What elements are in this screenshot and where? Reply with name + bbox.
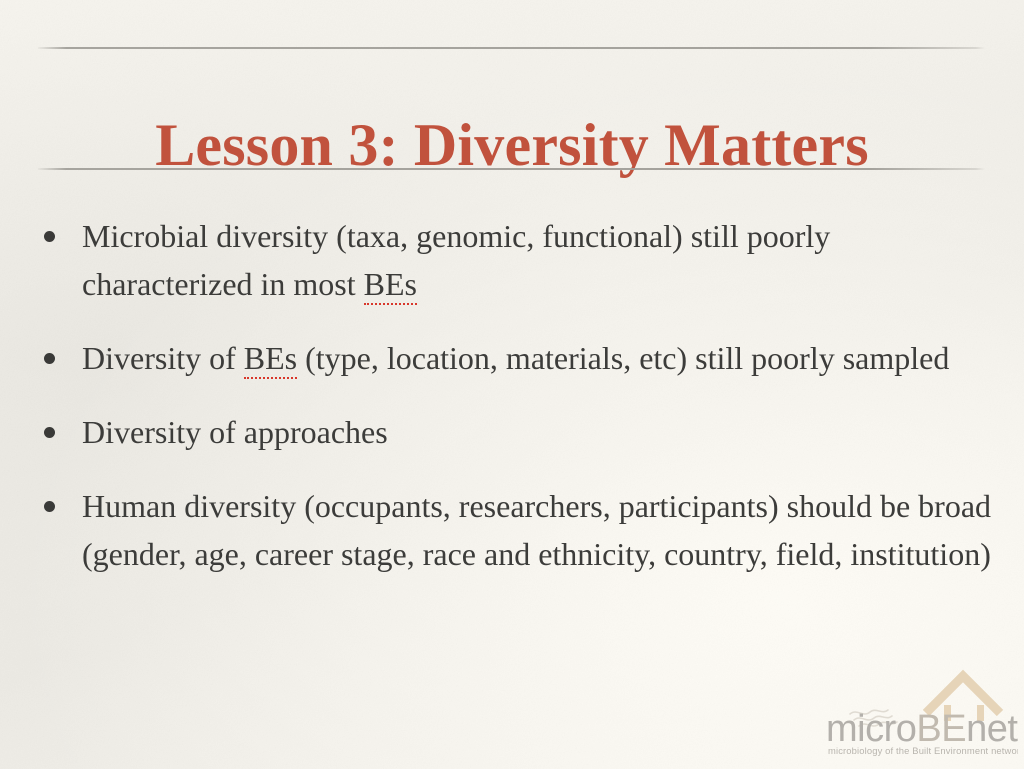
logo-wordmark: microBEnet — [826, 708, 1018, 750]
list-item: Human diversity (occupants, researchers,… — [38, 482, 993, 578]
logo-wordmark-micro: micro — [826, 708, 916, 750]
bullet-dot-icon — [44, 231, 55, 242]
list-item-text-before: Diversity of approaches — [82, 414, 388, 450]
list-item: Microbial diversity (taxa, genomic, func… — [38, 212, 993, 308]
list-item-text: Microbial diversity (taxa, genomic, func… — [82, 212, 993, 308]
misspelled-word: BEs — [244, 340, 297, 379]
list-item-text-before: Human diversity (occupants, researchers,… — [82, 488, 991, 572]
list-item-text-before: Diversity of — [82, 340, 244, 376]
logo-wordmark-net: net — [966, 708, 1018, 750]
bullet-dot-icon — [44, 427, 55, 438]
list-item-text: Diversity of approaches — [82, 408, 993, 456]
list-item-text-after: (type, location, materials, etc) still p… — [297, 340, 949, 376]
list-item: Diversity of approaches — [38, 408, 993, 456]
microbenet-logo: microBEnet microbiology of the Built Env… — [820, 667, 1018, 759]
list-item: Diversity of BEs (type, location, materi… — [38, 334, 993, 382]
list-item-text: Diversity of BEs (type, location, materi… — [82, 334, 993, 382]
list-item-text: Human diversity (occupants, researchers,… — [82, 482, 993, 578]
page-title: Lesson 3: Diversity Matters — [0, 106, 1024, 184]
logo-tagline: microbiology of the Built Environment ne… — [828, 745, 1018, 756]
slide-canvas: Lesson 3: Diversity Matters Microbial di… — [0, 0, 1024, 769]
bullet-list: Microbial diversity (taxa, genomic, func… — [38, 212, 993, 578]
list-item-text-before: Microbial diversity (taxa, genomic, func… — [82, 218, 830, 302]
misspelled-word: BEs — [364, 266, 417, 305]
logo-wordmark-be: BE — [916, 708, 966, 750]
title-rule-bottom — [38, 168, 985, 170]
title-rule-top — [38, 47, 985, 49]
bullet-dot-icon — [44, 353, 55, 364]
bullet-dot-icon — [44, 501, 55, 512]
